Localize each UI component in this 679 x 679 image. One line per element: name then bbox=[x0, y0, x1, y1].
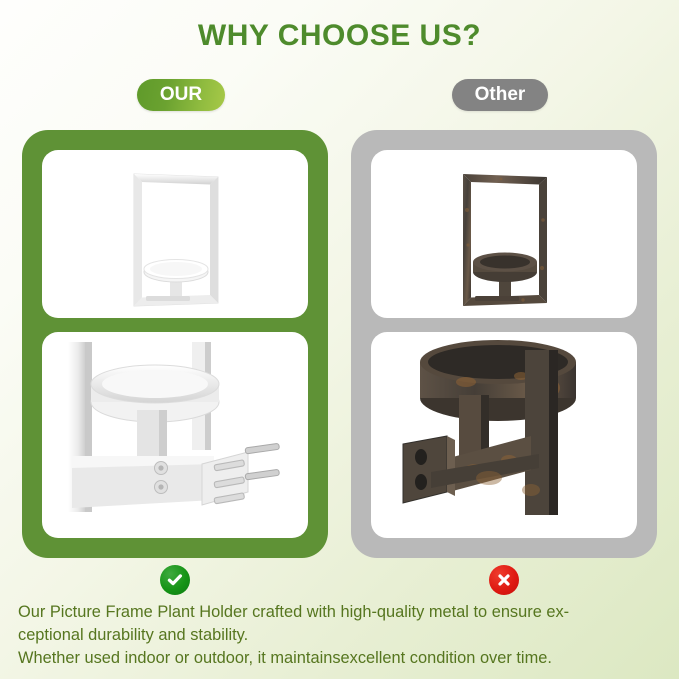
badge-our-label: OUR bbox=[160, 84, 202, 106]
description-line-3: Whether used indoor or outdoor, it maint… bbox=[18, 647, 666, 670]
panel-our bbox=[22, 130, 328, 558]
card-other-frame bbox=[371, 150, 637, 318]
description-line-1: Our Picture Frame Plant Holder crafted w… bbox=[18, 601, 666, 624]
badge-our: OUR bbox=[137, 79, 225, 111]
panel-other bbox=[351, 130, 657, 558]
cross-circle-icon bbox=[489, 565, 519, 595]
white-picture-frame-plant-holder-image bbox=[42, 150, 308, 318]
page-title: WHY CHOOSE US? bbox=[0, 19, 679, 53]
rusty-picture-frame-plant-holder-image bbox=[371, 150, 637, 318]
white-bracket-detail-image bbox=[42, 332, 308, 538]
card-our-bracket-detail bbox=[42, 332, 308, 538]
card-other-bracket-detail bbox=[371, 332, 637, 538]
badge-other-label: Other bbox=[475, 84, 526, 106]
description-text: Our Picture Frame Plant Holder crafted w… bbox=[18, 601, 666, 670]
card-our-frame bbox=[42, 150, 308, 318]
badge-other: Other bbox=[452, 79, 548, 111]
rusty-bracket-detail-image bbox=[371, 332, 637, 538]
check-circle-icon bbox=[160, 565, 190, 595]
why-choose-us-infographic: WHY CHOOSE US? OUR Other bbox=[0, 0, 679, 679]
description-line-2: ceptional durability and stability. bbox=[18, 624, 666, 647]
